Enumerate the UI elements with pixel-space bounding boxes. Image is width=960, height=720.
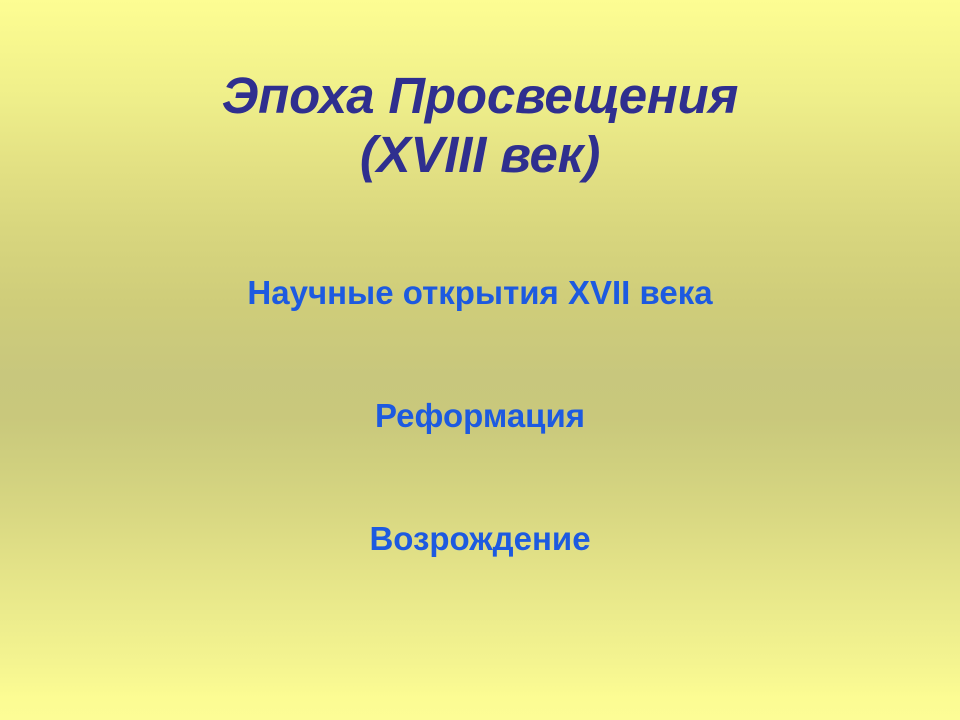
slide-body-line-scientific-discoveries: Научные открытия XVII века [0,272,960,313]
presentation-slide: Эпоха Просвещения (XVIII век) Научные от… [0,0,960,720]
slide-title: Эпоха Просвещения (XVIII век) [0,66,960,184]
slide-body-line-reformation: Реформация [0,395,960,436]
slide-body-line-renaissance: Возрождение [0,518,960,559]
slide-title-line-2: (XVIII век) [0,125,960,184]
slide-body: Научные открытия XVII века Реформация Во… [0,272,960,559]
slide-title-line-1: Эпоха Просвещения [0,66,960,125]
